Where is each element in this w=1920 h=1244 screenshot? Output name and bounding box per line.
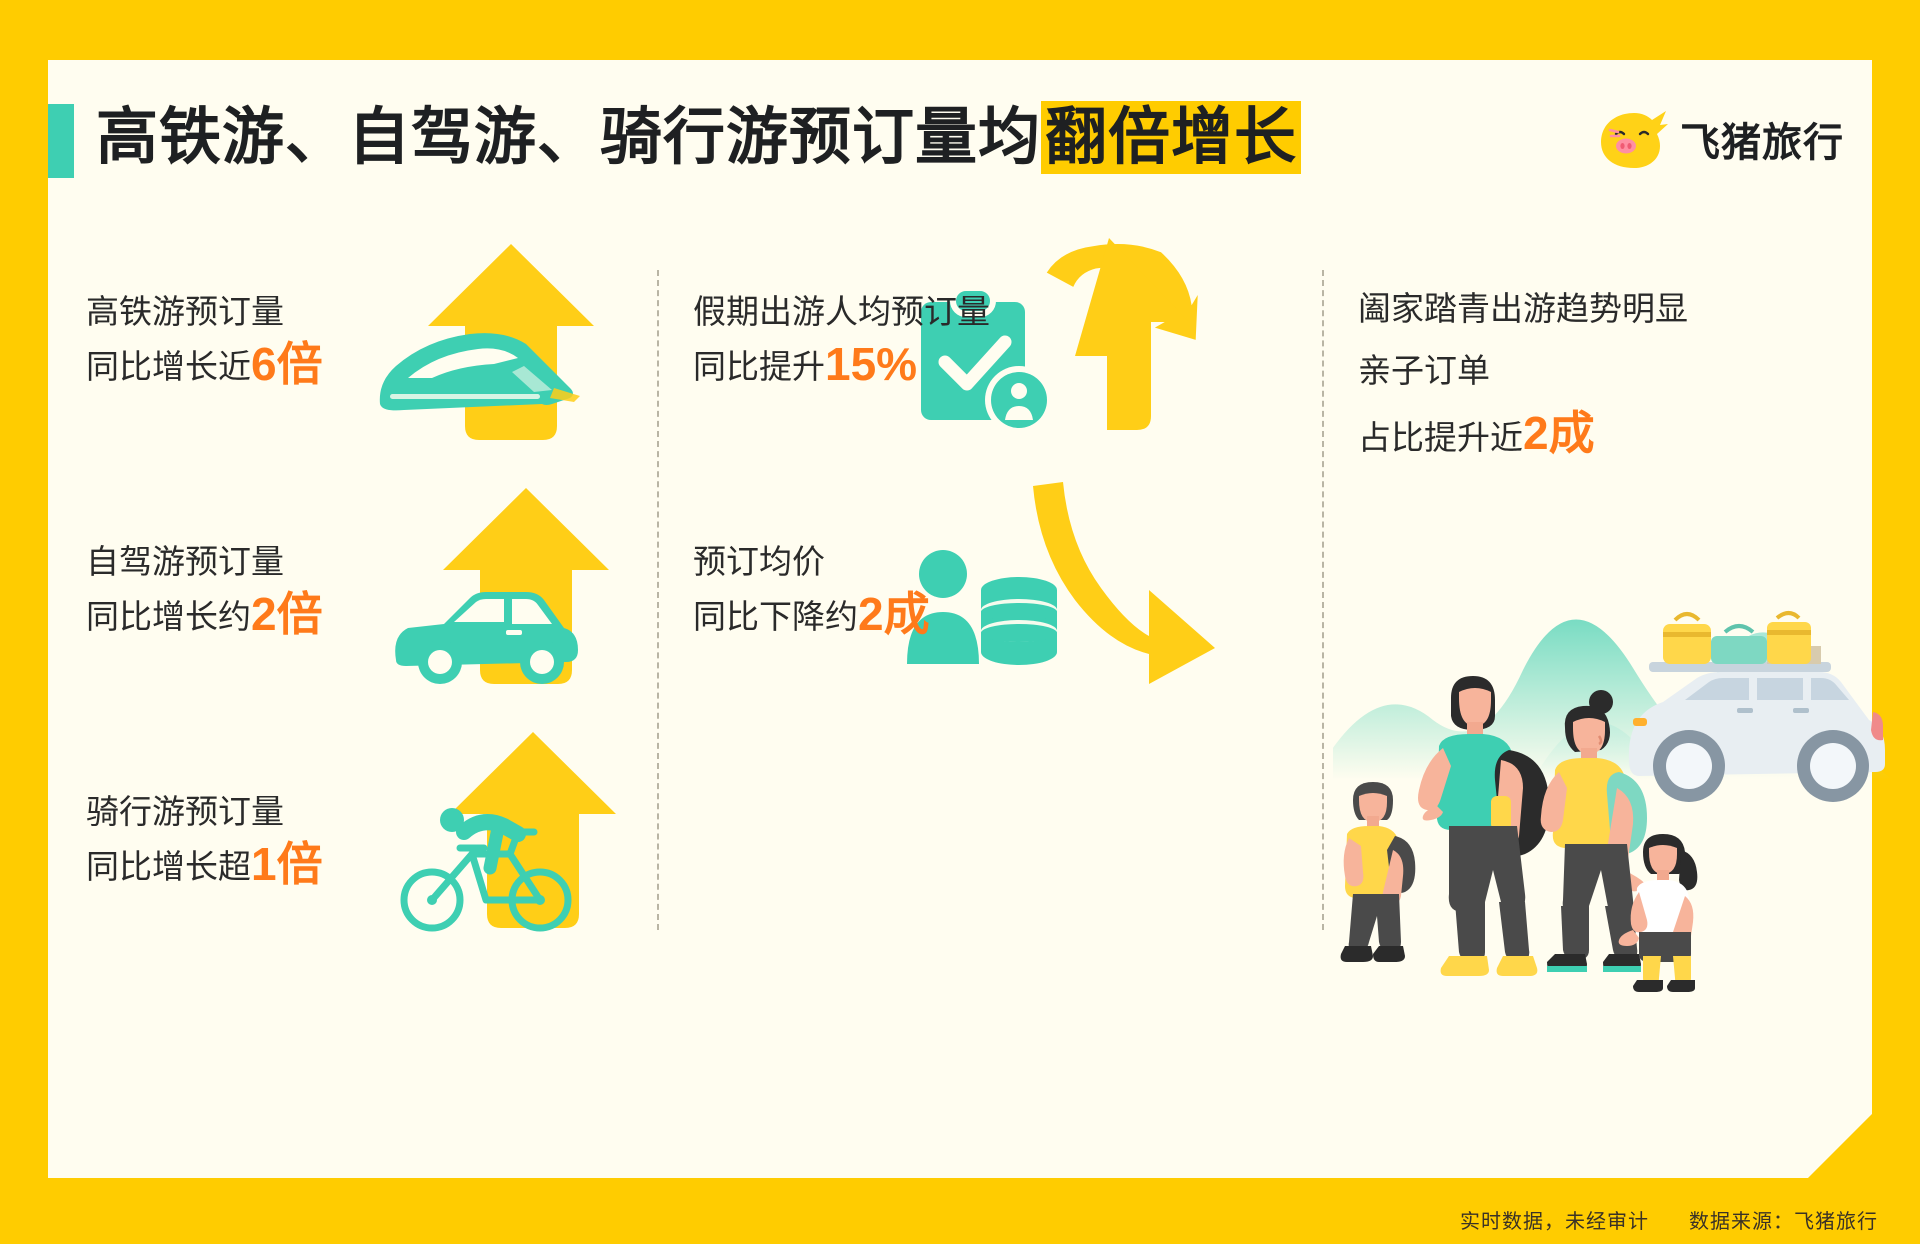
brand-name: 飞猪旅行 (1680, 110, 1844, 168)
family-line1: 阖家踏青出游趋势明显 (1358, 290, 1688, 327)
family-line3-prefix: 占比提升近 (1358, 419, 1523, 456)
stat-value: 6倍 (251, 338, 323, 390)
stat-line1: 自驾游预订量 (86, 543, 284, 580)
stat-cycling: 骑行游预订量 同比增长超1倍 (86, 750, 646, 1000)
car-icon (386, 578, 586, 690)
bicycle-icon (398, 806, 578, 938)
page-title: 高铁游、自驾游、骑行游预订量均翻倍增长 (96, 90, 1301, 186)
stat-avg-bookings: 假期出游人均预订量 同比提升15% (693, 250, 1313, 500)
family-line3-value: 2成 (1523, 407, 1595, 459)
header: 高铁游、自驾游、骑行游预订量均翻倍增长 飞猪旅行 (48, 82, 1872, 182)
footer-source: 数据来源：飞猪旅行 (1689, 1205, 1878, 1234)
stat-line1: 假期出游人均预订量 (693, 293, 990, 330)
stat-line2-prefix: 同比增长近 (86, 348, 251, 385)
stat-value: 2倍 (251, 588, 323, 640)
stat-text: 自驾游预订量 同比增长约2倍 (86, 536, 323, 643)
stat-line1: 高铁游预订量 (86, 293, 284, 330)
stat-value: 1倍 (251, 838, 323, 890)
page-title-highlight: 翻倍增长 (1041, 101, 1301, 174)
stat-text: 预订均价 同比下降约2成 (693, 536, 930, 643)
column-divider-1 (657, 270, 659, 930)
high-speed-train-icon (374, 318, 584, 428)
stat-line1: 预订均价 (693, 543, 825, 580)
stat-text: 高铁游预订量 同比增长近6倍 (86, 286, 323, 393)
brand-logo: 飞猪旅行 (1596, 100, 1844, 178)
stat-value: 2成 (858, 588, 930, 640)
stat-line2-prefix: 同比增长超 (86, 848, 251, 885)
stat-text: 假期出游人均预订量 同比提升15% (693, 286, 990, 393)
family-stat-text: 阖家踏青出游趋势明显 亲子订单 占比提升近2成 (1358, 278, 1688, 469)
stat-high-speed-train: 高铁游预订量 同比增长近6倍 (86, 250, 646, 500)
title-accent-bar (48, 104, 74, 178)
page-fold-cut (1807, 1113, 1873, 1179)
stat-value: 15% (825, 338, 917, 390)
stat-line1: 骑行游预订量 (86, 793, 284, 830)
stat-line2-prefix: 同比下降约 (693, 598, 858, 635)
column-transport: 高铁游预订量 同比增长近6倍 (86, 250, 646, 1000)
family-line2: 亲子订单 (1358, 352, 1490, 389)
family-travel-suv-icon (1333, 550, 1893, 1030)
footer-note: 实时数据，未经审计 (1460, 1205, 1649, 1234)
column-divider-2 (1322, 270, 1324, 930)
page-title-plain: 高铁游、自驾游、骑行游预订量均 (96, 103, 1041, 172)
infographic-card: 高铁游、自驾游、骑行游预订量均翻倍增长 飞猪旅行 (48, 60, 1872, 1178)
stat-avg-price: 预订均价 同比下降约2成 (693, 500, 1313, 750)
footer: 实时数据，未经审计 数据来源：飞猪旅行 (1460, 1205, 1878, 1234)
stat-line2-prefix: 同比增长约 (86, 598, 251, 635)
stat-line2-prefix: 同比提升 (693, 348, 825, 385)
stat-text: 骑行游预订量 同比增长超1倍 (86, 786, 323, 893)
column-booking: 假期出游人均预订量 同比提升15% (693, 250, 1313, 750)
stat-self-drive: 自驾游预订量 同比增长约2倍 (86, 500, 646, 750)
fliggy-pig-logo-icon (1596, 108, 1670, 170)
